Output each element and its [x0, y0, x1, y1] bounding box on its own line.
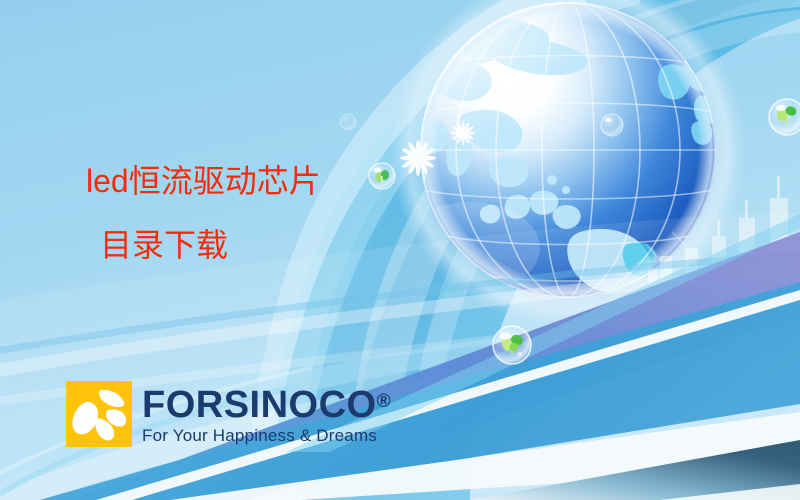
logo-text-block: FORSINOCO® For Your Happiness & Dreams	[142, 383, 391, 445]
bubble-faint-extra	[340, 114, 356, 130]
promo-banner: led恒流驱动芯片 目录下载 FORSINOCO® For Your Happ	[0, 0, 800, 500]
logo-wordmark-text: FORSINOCO	[142, 384, 377, 426]
brand-logo[interactable]: FORSINOCO® For Your Happiness & Dreams	[66, 381, 391, 447]
registered-trademark-icon: ®	[377, 391, 391, 412]
logo-tagline: For Your Happiness & Dreams	[142, 426, 391, 445]
logo-mark	[66, 381, 132, 447]
four-petal-pinwheel-icon	[66, 381, 132, 447]
bubble-right-edge	[769, 99, 800, 135]
bubble-small-left	[369, 163, 395, 189]
bubble-globe-top	[601, 114, 623, 136]
bubble-sprout-center	[493, 326, 531, 364]
logo-wordmark: FORSINOCO®	[142, 383, 391, 424]
